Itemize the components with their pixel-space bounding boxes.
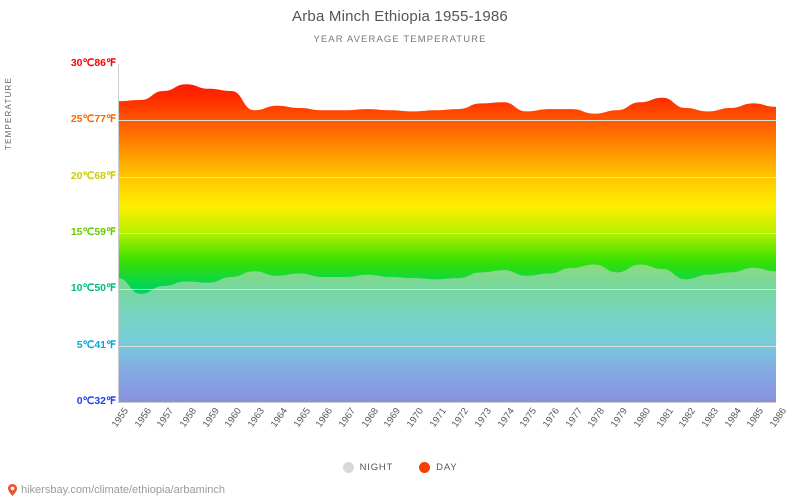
legend-label: DAY — [436, 462, 457, 473]
x-tick-label: 1971 — [421, 406, 448, 439]
x-tick-label: 1956 — [126, 406, 153, 439]
x-axis-ticks: 1955195619571958195919601963196419651966… — [118, 406, 776, 466]
x-tick-label: 1958 — [172, 406, 199, 439]
x-tick-label: 1967 — [331, 406, 358, 439]
x-tick-label: 1970 — [399, 406, 426, 439]
x-tick-label: 1963 — [240, 406, 267, 439]
y-tick-label: 15℃59℉ — [32, 227, 116, 238]
x-axis-line — [118, 402, 776, 403]
y-axis-label: TEMPERATURE — [4, 77, 13, 150]
x-tick-label: 1977 — [557, 406, 584, 439]
gridline — [118, 177, 776, 178]
legend-item[interactable]: NIGHT — [343, 462, 394, 473]
y-tick-label: 5℃41℉ — [32, 340, 116, 351]
chart-subtitle: YEAR AVERAGE TEMPERATURE — [0, 34, 800, 45]
chart-legend: NIGHTDAY — [0, 462, 800, 473]
chart-title: Arba Minch Ethiopia 1955-1986 — [0, 8, 800, 25]
gridline — [118, 289, 776, 290]
legend-label: NIGHT — [360, 462, 394, 473]
x-tick-label: 1955 — [104, 406, 131, 439]
source-footer: hikersbay.com/climate/ethiopia/arbaminch — [8, 484, 225, 496]
source-link[interactable]: hikersbay.com/climate/ethiopia/arbaminch — [21, 484, 225, 496]
y-tick-label: 25℃77℉ — [32, 114, 116, 125]
plot-area — [118, 64, 776, 402]
x-tick-label: 1979 — [603, 406, 630, 439]
chart-container: Arba Minch Ethiopia 1955-1986 YEAR AVERA… — [0, 0, 800, 500]
y-tick-label: 20℃68℉ — [32, 171, 116, 182]
x-tick-label: 1973 — [467, 406, 494, 439]
y-tick-label: 0℃32℉ — [32, 396, 116, 407]
x-tick-label: 1983 — [694, 406, 721, 439]
x-tick-label: 1986 — [762, 406, 789, 439]
x-tick-label: 1964 — [262, 406, 289, 439]
x-tick-label: 1980 — [626, 406, 653, 439]
x-tick-label: 1959 — [194, 406, 221, 439]
legend-swatch-icon — [419, 462, 430, 473]
gridline — [118, 346, 776, 347]
x-tick-label: 1976 — [535, 406, 562, 439]
y-axis-line — [118, 64, 119, 402]
location-pin-icon — [8, 484, 17, 496]
y-tick-label: 30℃86℉ — [32, 58, 116, 69]
y-tick-label: 10℃50℉ — [32, 283, 116, 294]
x-tick-label: 1974 — [489, 406, 516, 439]
legend-swatch-icon — [343, 462, 354, 473]
legend-item[interactable]: DAY — [419, 462, 457, 473]
gridline — [118, 120, 776, 121]
gridline — [118, 233, 776, 234]
